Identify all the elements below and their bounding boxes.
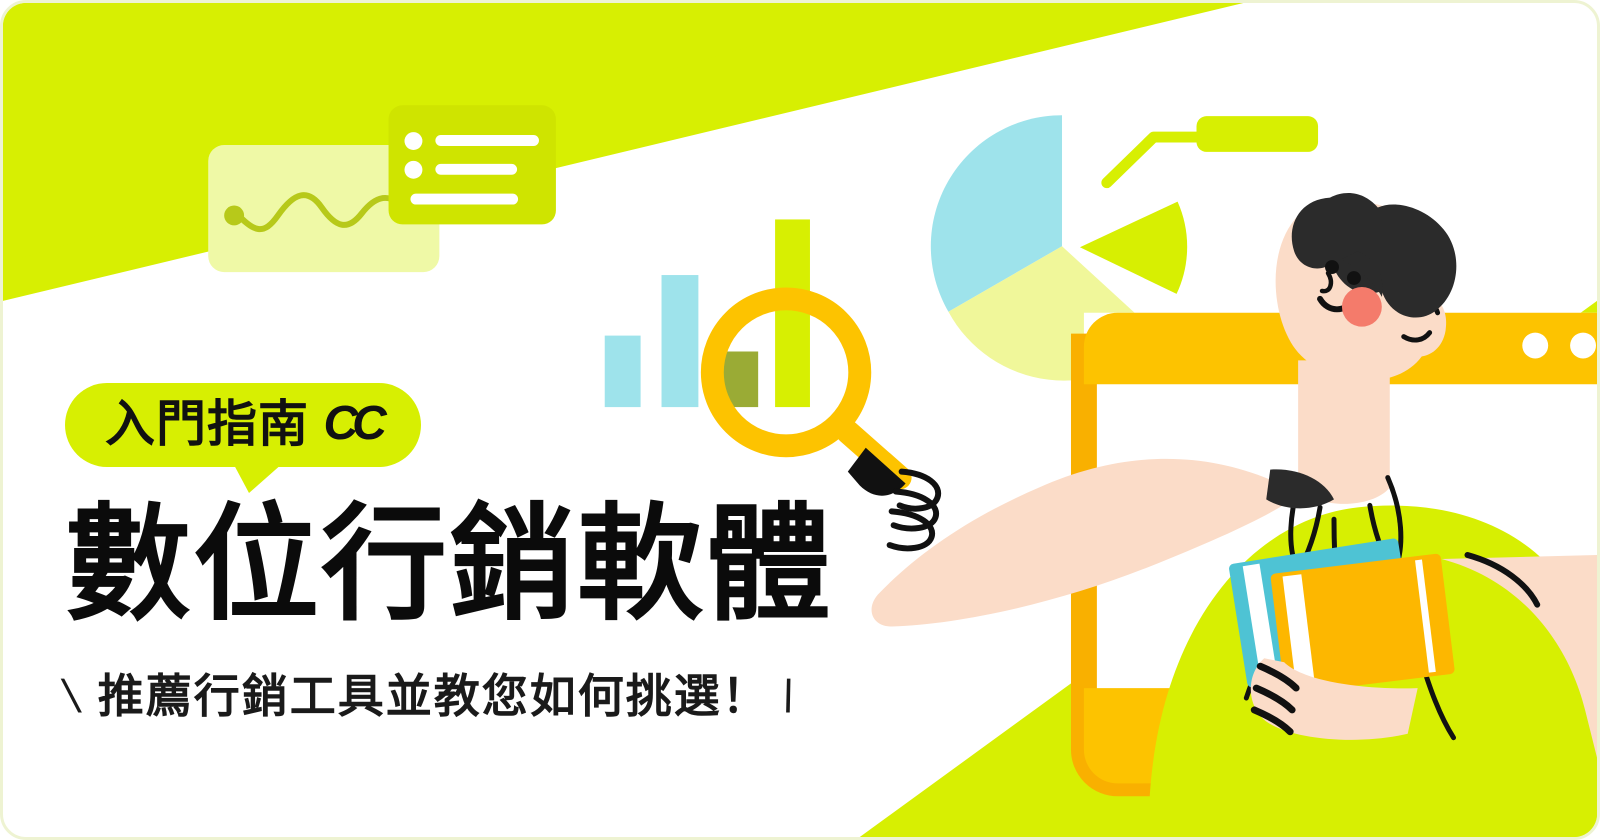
marketing-banner: 入門指南 CC 數位行銷軟體 \推薦行銷工具並教您如何挑選！/ — [0, 0, 1600, 840]
page-title: 數位行銷軟體 — [65, 501, 895, 630]
badge-quote-glyph: CC — [323, 400, 380, 448]
subtitle: \推薦行銷工具並教您如何挑選！/ — [65, 660, 895, 726]
sleeve-cuff — [1266, 469, 1334, 508]
guide-badge: 入門指南 CC — [65, 383, 421, 467]
subtitle-text: 推薦行銷工具並教您如何挑選！ — [98, 670, 770, 722]
slash-right-decor: / — [775, 669, 803, 723]
badge-label: 入門指南 — [105, 396, 309, 452]
headline-block: 入門指南 CC 數位行銷軟體 \推薦行銷工具並教您如何挑選！/ — [65, 383, 895, 726]
